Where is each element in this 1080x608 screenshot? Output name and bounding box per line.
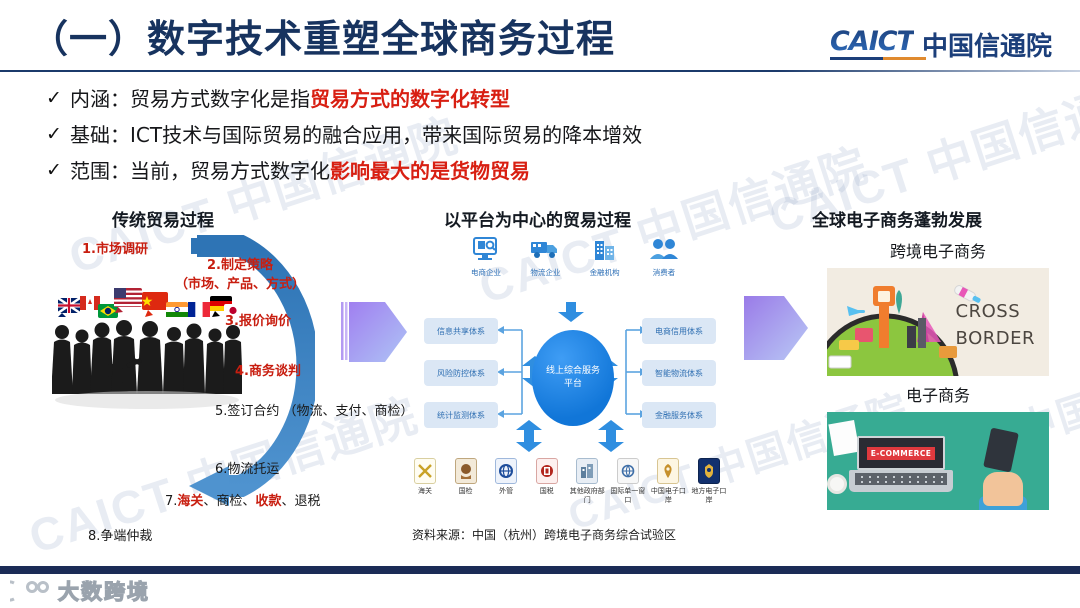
paper-icon — [828, 420, 859, 456]
ecommerce-image: E-COMMERCE — [827, 412, 1049, 510]
actor-label: 金融机构 — [579, 267, 631, 278]
truck-icon — [519, 234, 571, 264]
global-ecommerce-panel: 跨境电子商务 CROSS — [806, 232, 1070, 552]
platform-actor-row: 电商企业 物流企业 金融机构 消费者 — [460, 234, 690, 278]
laptop-screen-icon: E-COMMERCE — [857, 436, 945, 470]
platform-hub: 线上综合服务 平台 — [532, 330, 614, 426]
agency-label: 地方电子口岸 — [690, 487, 728, 505]
bullet-text: 范围：当前，贸易方式数字化影响最大的是货物贸易 — [70, 158, 530, 185]
check-icon: ✓ — [46, 122, 70, 148]
slide-root: CAICT 中国信通院 CAICT 中国信通院 CAICT 中国信通院 CAIC… — [0, 0, 1080, 608]
process-step-7-word2: 收款 — [255, 494, 281, 509]
actor-logistics-enterprise: 物流企业 — [519, 234, 571, 278]
caict-logo-cn: 中国信通院 — [922, 26, 1052, 63]
system-smart-logistics: 智能物流体系 — [642, 360, 716, 386]
agency-label: 海关 — [406, 487, 444, 496]
list-item: ✓ 基础：ICT技术与国际贸易的融合应用，带来国际贸易的降本增效 — [46, 122, 642, 149]
process-step-5-line2: （物流、支付、商检） — [284, 404, 414, 419]
agency-label: 国税 — [528, 487, 566, 496]
agency-customs: 海关 — [406, 458, 444, 505]
system-risk-control: 风险防控体系 — [424, 360, 498, 386]
customs-badge-icon — [414, 458, 436, 484]
single-window-badge-icon — [617, 458, 639, 484]
process-step-2-line1: 2.制定策略 — [175, 254, 305, 273]
caict-logo-abbr: CAICT — [830, 26, 914, 57]
process-step-2-line2: （市场、产品、方式） — [175, 273, 305, 292]
process-step-5-line1: 5.签订合约 — [215, 404, 279, 419]
check-icon: ✓ — [46, 158, 70, 184]
transition-arrow-1-icon — [341, 296, 411, 368]
business-people-silhouette-icon — [52, 312, 242, 422]
ecommerce-label: 电子商务 — [806, 382, 1070, 406]
system-statistics-monitoring: 统计监测体系 — [424, 402, 498, 428]
tax-badge-icon — [536, 458, 558, 484]
calculator-icon — [983, 428, 1019, 473]
platform-hub-line1: 线上综合服务 — [546, 365, 600, 378]
agency-inspection: 国检 — [447, 458, 485, 505]
bullet-text: 基础：ICT技术与国际贸易的融合应用，带来国际贸易的降本增效 — [70, 122, 642, 149]
inspection-badge-icon — [455, 458, 477, 484]
process-step-7: 7.海关、商检、收款、退税 — [165, 490, 320, 509]
users-icon — [638, 234, 690, 264]
footer-brand: 大数跨境 — [58, 576, 150, 606]
process-step-3: 3.报价询价 — [225, 310, 291, 329]
keyboard-icon — [855, 473, 947, 485]
agency-label: 国际单一窗口 — [609, 487, 647, 505]
source-note: 资料来源：中国（杭州）跨境电子商务综合试验区 — [412, 526, 676, 543]
caict-logo-underline — [830, 57, 926, 60]
hand-icon — [983, 472, 1023, 506]
china-eport-badge-icon — [657, 458, 679, 484]
actor-label: 消费者 — [638, 267, 690, 278]
government-badge-icon — [576, 458, 598, 484]
caict-logo: CAICT 中国信通院 — [830, 26, 1052, 62]
column-heading-traditional: 传统贸易过程 — [112, 206, 214, 231]
actor-label: 电商企业 — [460, 267, 512, 278]
actor-financial-institution: 金融机构 — [579, 234, 631, 278]
traditional-process-diagram: 1.市场调研 2.制定策略 （市场、产品、方式） 3.报价询价 4.商务谈判 5… — [60, 232, 360, 542]
agency-china-eport: 中国电子口岸 — [649, 458, 687, 505]
agency-local-eport: 地方电子口岸 — [690, 458, 728, 505]
process-step-2: 2.制定策略 （市场、产品、方式） — [175, 254, 305, 292]
agency-forex: 外管 — [487, 458, 525, 505]
agency-other-government: 其他政府部门 — [568, 458, 606, 505]
agency-label: 外管 — [487, 487, 525, 496]
actor-label: 物流企业 — [519, 267, 571, 278]
process-step-4: 4.商务谈判 — [235, 360, 301, 379]
actor-ecommerce-enterprise: 电商企业 — [460, 234, 512, 278]
list-item: ✓ 内涵：贸易方式数字化是指贸易方式的数字化转型 — [46, 86, 642, 113]
monitor-search-icon — [460, 234, 512, 264]
agency-single-window: 国际单一窗口 — [609, 458, 647, 505]
forex-badge-icon — [495, 458, 517, 484]
process-step-5: 5.签订合约 （物流、支付、商检） — [215, 400, 414, 419]
government-agency-row: 海关 国检 外管 国税 — [406, 458, 728, 505]
cross-border-line1: CROSS — [956, 298, 1035, 325]
agency-label: 中国电子口岸 — [649, 487, 687, 505]
list-item: ✓ 范围：当前，贸易方式数字化影响最大的是货物贸易 — [46, 158, 642, 185]
platform-hub-line2: 平台 — [564, 378, 582, 391]
cross-border-caption: CROSS BORDER — [956, 298, 1035, 352]
footer-logo: 大数跨境 — [10, 576, 150, 606]
ecommerce-banner: E-COMMERCE — [867, 447, 936, 460]
check-icon: ✓ — [46, 86, 70, 112]
cup-icon — [827, 474, 847, 494]
slide-header: （一）数字技术重塑全球商务过程 CAICT 中国信通院 — [0, 0, 1080, 74]
agency-label: 其他政府部门 — [568, 487, 606, 505]
system-financial-service: 金融服务体系 — [642, 402, 716, 428]
local-eport-badge-icon — [698, 458, 720, 484]
title-divider — [0, 70, 1080, 72]
cross-border-image: CROSS BORDER — [827, 268, 1049, 376]
system-info-sharing: 信息共享体系 — [424, 318, 498, 344]
process-step-6: 6.物流托运 — [215, 458, 279, 477]
column-heading-ecommerce: 全球电子商务蓬勃发展 — [812, 206, 982, 231]
footer: 大数跨境 — [0, 574, 1080, 608]
agency-tax: 国税 — [528, 458, 566, 505]
system-ecommerce-credit: 电商信用体系 — [642, 318, 716, 344]
bank-building-icon — [579, 234, 631, 264]
bullet-highlight: 影响最大的是货物贸易 — [330, 159, 530, 183]
logo-mark-icon — [10, 579, 52, 603]
transition-arrow-2-icon — [742, 288, 812, 368]
process-step-8: 8.争端仲裁 — [88, 525, 152, 544]
page-title: （一）数字技术重塑全球商务过程 — [30, 8, 615, 63]
process-step-7-word1: 海关 — [177, 494, 203, 509]
bullet-text: 内涵：贸易方式数字化是指贸易方式的数字化转型 — [70, 86, 510, 113]
column-heading-platform: 以平台为中心的贸易过程 — [444, 206, 631, 231]
bullet-list: ✓ 内涵：贸易方式数字化是指贸易方式的数字化转型 ✓ 基础：ICT技术与国际贸易… — [46, 86, 642, 194]
process-step-1: 1.市场调研 — [82, 238, 148, 257]
footer-bar — [0, 566, 1080, 574]
cross-border-line2: BORDER — [956, 325, 1035, 352]
cross-border-label: 跨境电子商务 — [806, 238, 1070, 262]
platform-diagram: 电商企业 物流企业 金融机构 消费者 — [404, 232, 744, 552]
agency-label: 国检 — [447, 487, 485, 496]
bullet-highlight: 贸易方式的数字化转型 — [310, 87, 510, 111]
actor-consumer: 消费者 — [638, 234, 690, 278]
